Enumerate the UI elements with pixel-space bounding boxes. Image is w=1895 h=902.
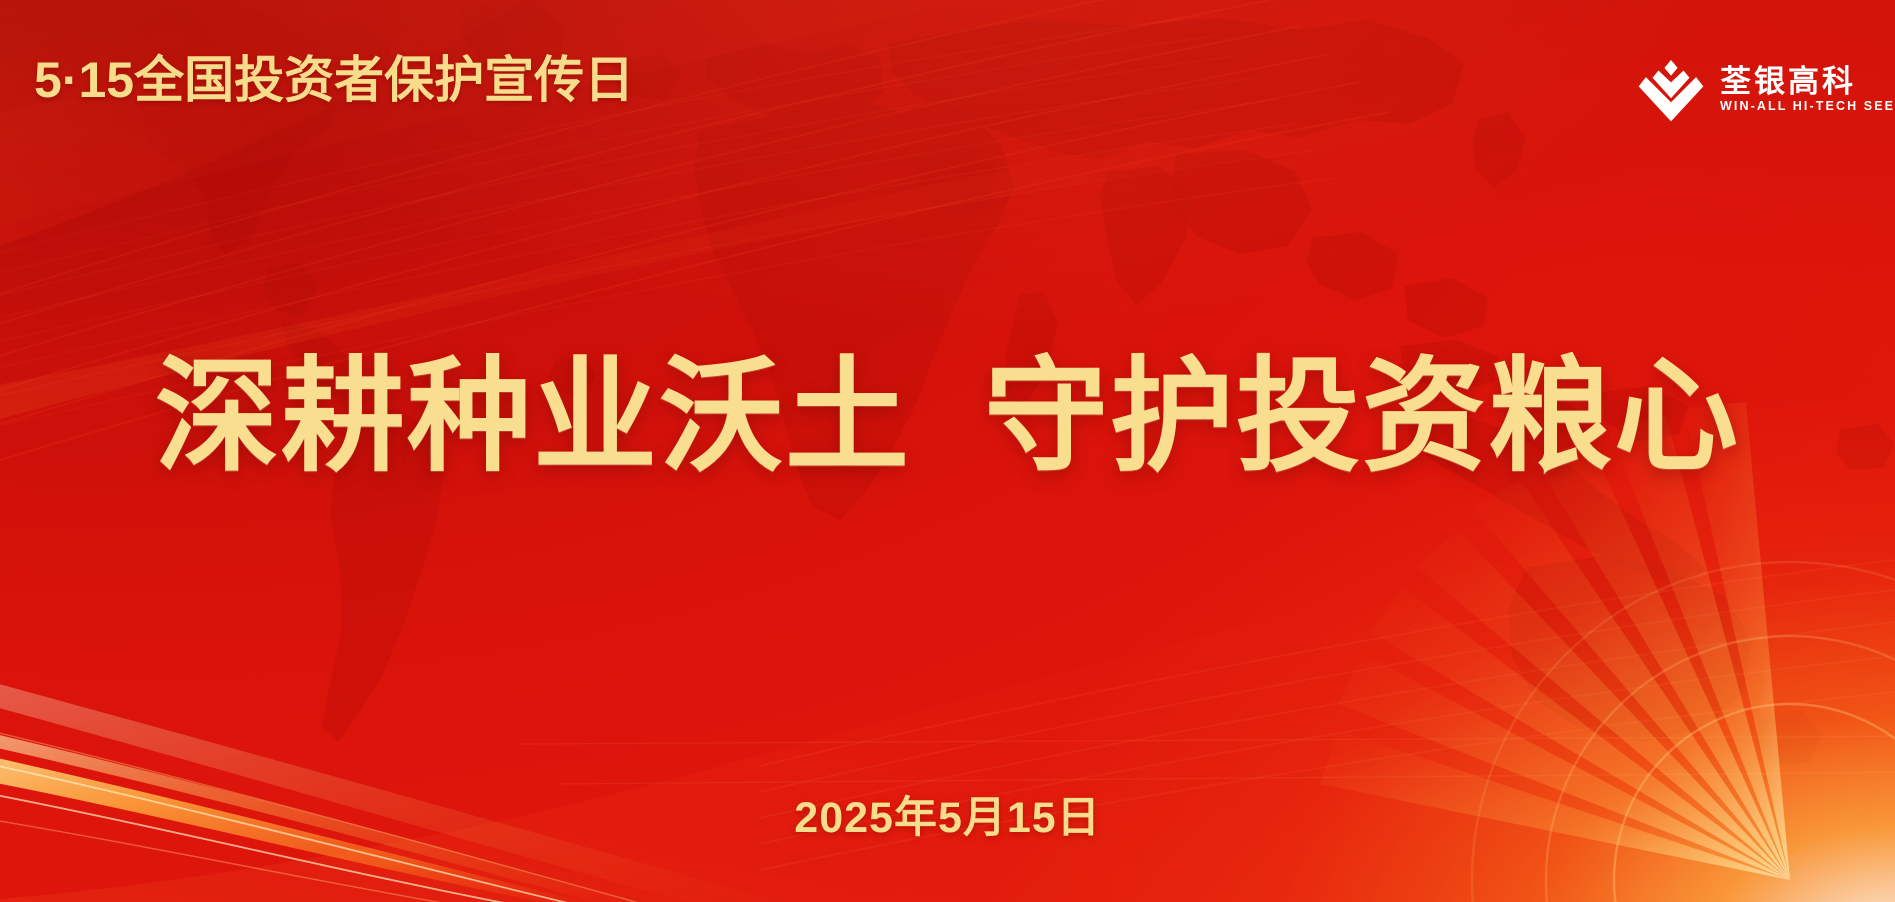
- brand-name-en: WIN-ALL HI-TECH SEED: [1720, 100, 1895, 113]
- company-logo: 荃银高科 WIN-ALL HI-TECH SEED: [1638, 52, 1895, 126]
- brand-name-cn: 荃银高科: [1720, 66, 1895, 97]
- main-slogan: 深耕种业沃土 守护投资粮心: [0, 342, 1895, 493]
- event-date: 2025年5月15日: [0, 797, 1895, 840]
- brand-wordmark: 荃银高科 WIN-ALL HI-TECH SEED: [1720, 66, 1895, 113]
- sprout-chevron-icon: [1638, 56, 1704, 122]
- banner-content: 5·15全国投资者保护宣传日 深耕种业沃土 守护投资粮心 2025年5月15日 …: [0, 0, 1895, 902]
- investor-protection-day-banner: 5·15全国投资者保护宣传日 深耕种业沃土 守护投资粮心 2025年5月15日 …: [0, 0, 1895, 902]
- campaign-headline: 5·15全国投资者保护宣传日: [34, 55, 634, 105]
